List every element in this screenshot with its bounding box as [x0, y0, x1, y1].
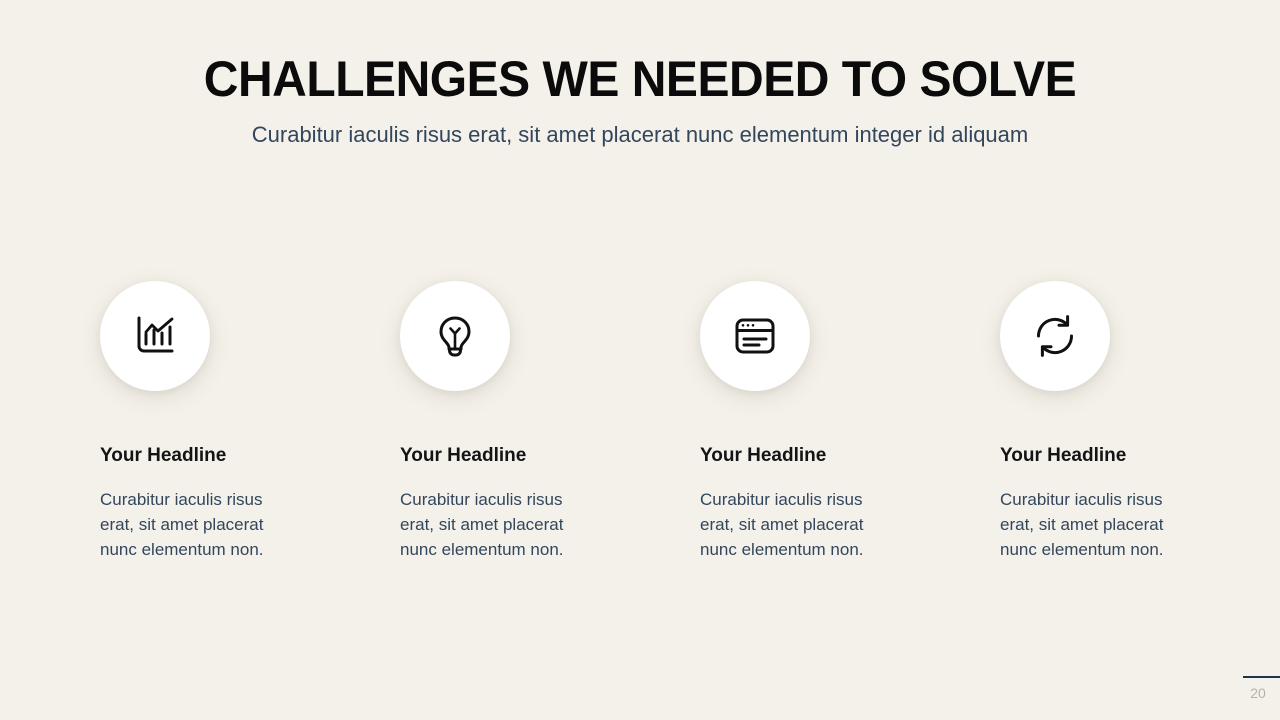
- bar-chart-growth-icon: [132, 313, 178, 359]
- column-headline: Your Headline: [100, 444, 400, 468]
- page-number-rule: [1243, 676, 1280, 678]
- refresh-sync-icon: [1032, 313, 1078, 359]
- feature-column: Your Headline Curabitur iaculis risus er…: [400, 281, 700, 562]
- column-body-text: Curabitur iaculis risus erat, sit amet p…: [100, 487, 300, 562]
- column-headline: Your Headline: [400, 444, 700, 468]
- column-body-text: Curabitur iaculis risus erat, sit amet p…: [400, 487, 600, 562]
- page-number: 20: [1243, 684, 1273, 702]
- column-body-text: Curabitur iaculis risus erat, sit amet p…: [700, 487, 900, 562]
- column-headline: Your Headline: [700, 444, 1000, 468]
- browser-window-icon: [732, 313, 778, 359]
- lightbulb-icon: [432, 313, 478, 359]
- column-body-text: Curabitur iaculis risus erat, sit amet p…: [1000, 487, 1200, 562]
- icon-badge: [1000, 281, 1110, 391]
- page-title: CHALLENGES WE NEEDED TO SOLVE: [26, 49, 1255, 109]
- feature-columns: Your Headline Curabitur iaculis risus er…: [100, 281, 1200, 562]
- icon-badge: [700, 281, 810, 391]
- presentation-slide: CHALLENGES WE NEEDED TO SOLVE Curabitur …: [0, 0, 1280, 720]
- page-subtitle: Curabitur iaculis risus erat, sit amet p…: [0, 121, 1280, 149]
- icon-badge: [400, 281, 510, 391]
- feature-column: Your Headline Curabitur iaculis risus er…: [100, 281, 400, 562]
- icon-badge: [100, 281, 210, 391]
- column-headline: Your Headline: [1000, 444, 1280, 468]
- feature-column: Your Headline Curabitur iaculis risus er…: [1000, 281, 1280, 562]
- feature-column: Your Headline Curabitur iaculis risus er…: [700, 281, 1000, 562]
